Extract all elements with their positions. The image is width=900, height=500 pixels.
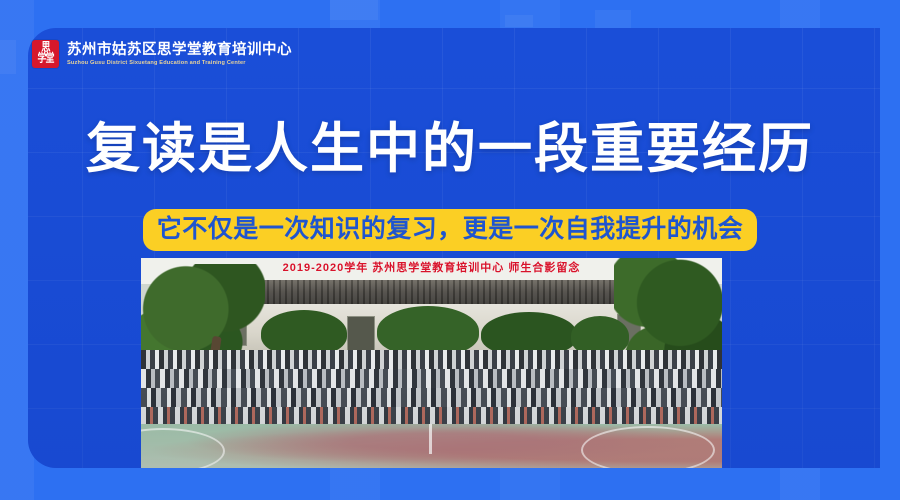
background-block-a (330, 0, 378, 20)
photo-court-arc-left (141, 428, 225, 468)
hero-subheadline-banner: 它不仅是一次知识的复习，更是一次自我提升的机会 (143, 209, 758, 251)
hero-headline: 复读是人生中的一段重要经历 (0, 118, 900, 180)
photo-crowd-row-3 (141, 388, 722, 408)
photo-caption: 2019-2020学年 苏州思学堂教育培训中心 师生合影留念 (141, 259, 722, 275)
photo-bush-b (377, 306, 479, 356)
hero-subheadline-wrap: 它不仅是一次知识的复习，更是一次自我提升的机会 (0, 209, 900, 251)
photo-court-arc-right (581, 426, 715, 468)
background-block-b (505, 15, 533, 27)
poster-canvas: 思 学堂 苏州市姑苏区思学堂教育培训中心 Suzhou Gusu Distric… (0, 0, 900, 500)
background-block-c (595, 10, 631, 28)
photo-door-center (347, 316, 375, 352)
photo-crowd (141, 350, 722, 426)
brand-name-en: Suzhou Gusu District Sixuetang Education… (67, 58, 292, 66)
background-block-d (0, 40, 16, 74)
photo-crowd-row-1 (141, 350, 722, 370)
group-photo: 2019-2020学年 苏州思学堂教育培训中心 师生合影留念 (141, 258, 722, 468)
brand-header: 思 学堂 苏州市姑苏区思学堂教育培训中心 Suzhou Gusu Distric… (32, 40, 292, 68)
brand-text-block: 苏州市姑苏区思学堂教育培训中心 Suzhou Gusu District Six… (67, 42, 292, 67)
red-seal-logo-icon: 思 学堂 (32, 40, 59, 68)
photo-court-centerline (429, 424, 432, 454)
logo-glyph-bottom: 学堂 (37, 54, 53, 65)
brand-name-cn: 苏州市姑苏区思学堂教育培训中心 (67, 42, 292, 59)
photo-court-ground (141, 424, 722, 468)
photo-crowd-row-2 (141, 369, 722, 389)
